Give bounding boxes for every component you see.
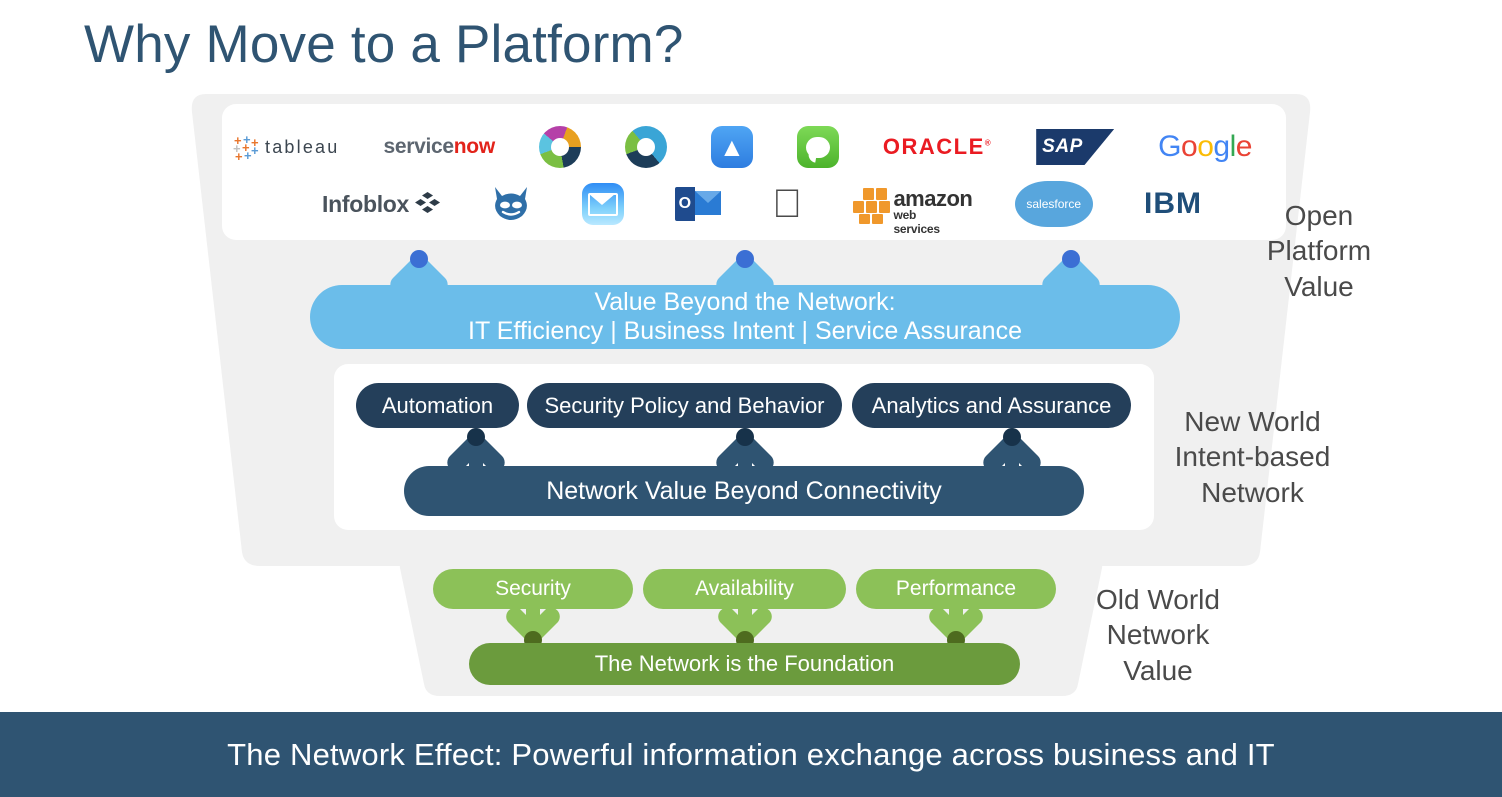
side-label-old-world: Old World Network Value [1058, 582, 1258, 688]
infoblox-wordmark: Infoblox [322, 191, 409, 218]
apple-logo:  [772, 176, 802, 232]
capability-pill-automation[interactable]: Automation [356, 383, 519, 428]
value-beyond-network-bar: Value Beyond the Network: IT Efficiency … [310, 285, 1180, 349]
blue-green-ring-logo [625, 118, 667, 176]
capability-pill-analytics[interactable]: Analytics and Assurance [852, 383, 1131, 428]
side-label-open-platform-value: Open Platform Value [1214, 198, 1424, 304]
messages-logo [797, 118, 839, 176]
ibm-logo: IBM [1144, 176, 1202, 232]
capability-pill-security-policy[interactable]: Security Policy and Behavior [527, 383, 842, 428]
aws-subtitle: web services [893, 208, 963, 236]
old-world-pill-performance[interactable]: Performance [856, 569, 1056, 609]
aws-boxes-icon [853, 188, 891, 222]
tableau-logo: + + + + + + + + tableau [232, 118, 339, 176]
infoblox-logo: Infoblox [322, 176, 441, 232]
outlook-letter: O [679, 195, 691, 213]
devil-mask-icon [492, 186, 530, 222]
oracle-wordmark: ORACLE [883, 134, 985, 159]
tableau-marks-icon: + + + + + + + + [232, 133, 262, 161]
app-store-logo: ▲ [711, 118, 753, 176]
network-is-the-foundation-bar: The Network is the Foundation [469, 643, 1020, 685]
logo-row-open-platform-2: Infoblox O  [322, 176, 1202, 232]
logo-row-open-platform-1: + + + + + + + + tableau servicenow ▲ ORA… [232, 118, 1252, 176]
tableau-wordmark: tableau [265, 137, 339, 158]
old-world-pill-availability[interactable]: Availability [643, 569, 846, 609]
infoblox-diamonds-icon [415, 192, 441, 216]
value-bar-line-1: Value Beyond the Network: [468, 288, 1022, 318]
bottom-banner: The Network Effect: Powerful information… [0, 712, 1502, 797]
ibm-wordmark: IBM [1144, 187, 1202, 221]
network-value-beyond-connectivity-bar: Network Value Beyond Connectivity [404, 466, 1084, 516]
amazon-web-services-logo: amazon web services [853, 176, 963, 232]
value-bar-line-2: IT Efficiency | Business Intent | Servic… [468, 317, 1022, 347]
apple-mail-logo [582, 176, 624, 232]
old-world-pill-security[interactable]: Security [433, 569, 633, 609]
sap-wordmark: SAP [1042, 136, 1083, 158]
multicolor-ring-logo [539, 118, 581, 176]
side-label-new-world: New World Intent-based Network [1140, 404, 1365, 510]
oracle-logo: ORACLE® [883, 118, 992, 176]
page-title: Why Move to a Platform? [84, 14, 684, 75]
google-logo: Google [1158, 118, 1252, 176]
salesforce-logo: salesforce [1015, 176, 1093, 232]
devil-mask-logo [492, 176, 530, 232]
outlook-logo: O [675, 176, 721, 232]
salesforce-wordmark: salesforce [1015, 181, 1093, 227]
sap-logo: SAP [1036, 118, 1114, 176]
servicenow-logo: servicenow [383, 118, 494, 176]
